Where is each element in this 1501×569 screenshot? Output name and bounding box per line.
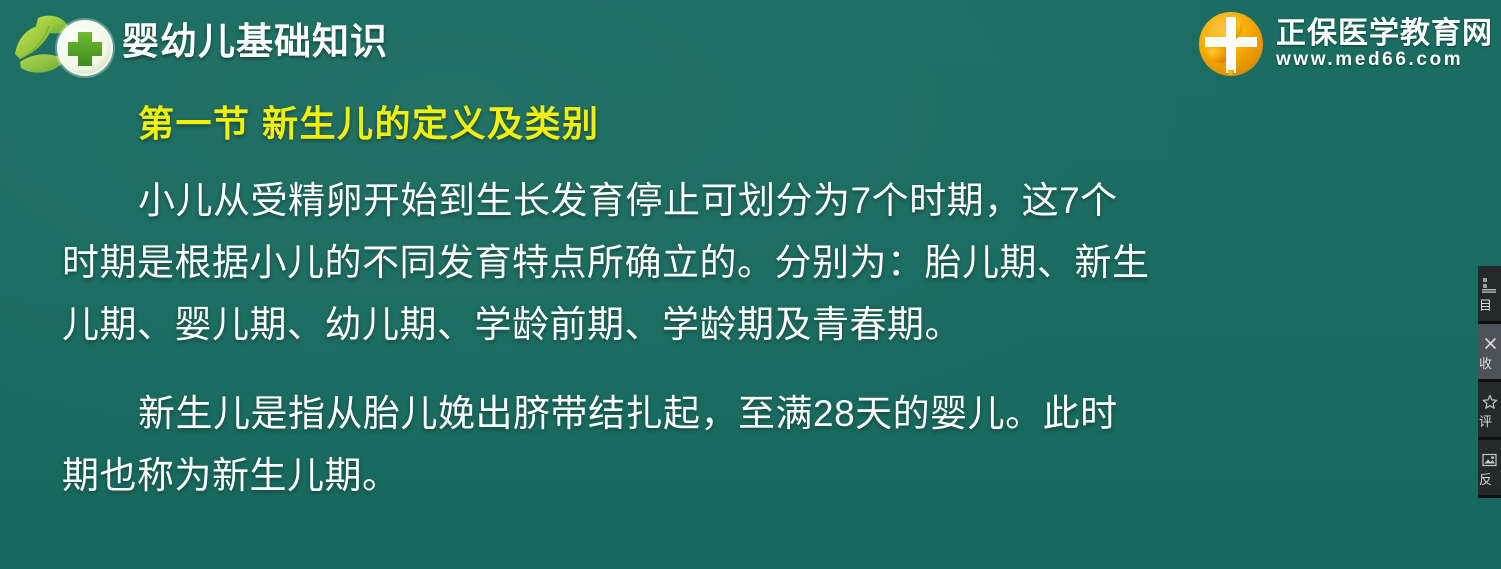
med66-circle-cross-icon [1195, 8, 1267, 80]
feedback-image-icon [1481, 450, 1498, 470]
body-paragraph: 小儿从受精卵开始到生长发育停止可划分为7个时期，这7个时期是根据小儿的不同发育特… [0, 170, 1180, 356]
body-paragraph: 新生儿是指从胎儿娩出脐带结扎起，至满28天的婴儿。此时期也称为新生儿期。 [0, 383, 1180, 507]
rail-label-catalog: 目 [1478, 299, 1501, 312]
rail-button-favorite[interactable]: 收 [1478, 324, 1501, 382]
leaf-medical-cross-icon [8, 2, 128, 90]
list-menu-icon [1481, 276, 1498, 296]
site-name: 正保医学教育网 [1276, 18, 1493, 50]
rail-label-feedback: 反 [1478, 473, 1501, 486]
tool-rail: 目 收 评 [1478, 266, 1501, 498]
site-watermark: 正保医学教育网 www.med66.com [1195, 4, 1493, 84]
rail-button-feedback[interactable]: 反 [1478, 440, 1501, 498]
star-icon [1481, 392, 1498, 412]
section-heading: 第一节 新生儿的定义及类别 [0, 92, 1180, 142]
site-url: www.med66.com [1276, 50, 1493, 70]
slide-content: 第一节 新生儿的定义及类别 小儿从受精卵开始到生长发育停止可划分为7个时期，这7… [0, 92, 1180, 507]
rail-button-catalog[interactable]: 目 [1478, 266, 1501, 324]
rail-button-rating[interactable]: 评 [1478, 382, 1501, 440]
close-x-icon [1481, 334, 1498, 354]
rail-label-rating: 评 [1478, 415, 1501, 428]
slide-canvas: 婴幼儿基础知识 [0, 0, 1501, 569]
rail-label-favorite: 收 [1478, 357, 1501, 370]
page-title: 婴幼儿基础知识 [122, 23, 388, 60]
slide-header: 婴幼儿基础知识 [0, 0, 1501, 92]
